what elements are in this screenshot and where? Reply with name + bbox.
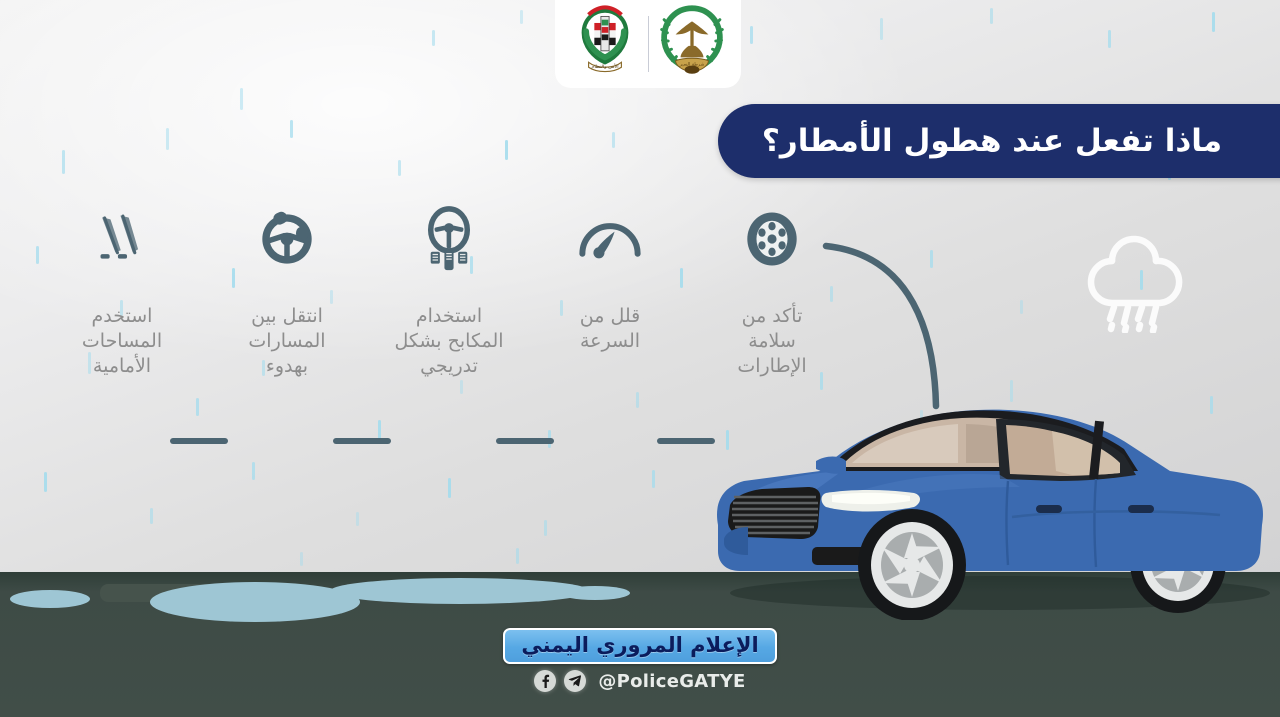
rain-drop [378,420,381,440]
rain-drop [880,18,883,40]
infographic-canvas: الأمن والنظام شرطة السير ماذا تفعل عند ه… [0,0,1280,717]
rain-drop [398,160,401,176]
steering-wheel-hands-icon [214,198,360,280]
step-label: استخدامالمكابح بشكلتدريجي [376,304,522,379]
rain-drop [750,26,753,44]
rain-drop [44,472,47,492]
rain-drop [252,462,255,480]
step-label: استخدمالمساحاتالأمامية [49,304,195,379]
step-reduce-speed[interactable]: قلل منالسرعة [537,198,683,354]
rain-drop [544,520,547,536]
social-row: @PoliceGATYE [534,670,745,692]
footer: الإعلام المروري اليمني @PoliceGATYE [0,628,1280,692]
telegram-icon[interactable] [564,670,586,692]
brand-badge: الإعلام المروري اليمني [503,628,776,664]
rain-cloud-icon [1068,215,1204,337]
rain-drop [166,128,169,150]
rain-drop [448,478,451,498]
step-gradual-braking[interactable]: استخدامالمكابح بشكلتدريجي [376,198,522,379]
rain-drop [520,10,523,24]
step-use-wipers[interactable]: استخدمالمساحاتالأمامية [49,198,195,379]
puddle-large [330,578,590,604]
facebook-icon[interactable] [534,670,556,692]
connector-3 [496,438,554,444]
rain-drop [1020,300,1023,314]
rain-drop [652,470,655,488]
front-wheel [858,509,966,620]
rain-drop [1108,30,1111,48]
connector-2 [333,438,391,444]
rain-drop [356,512,359,526]
puddle-medium [150,582,360,622]
social-handle: @PoliceGATYE [598,671,745,692]
blue-sedan-car [700,375,1280,624]
step-label: قلل منالسرعة [537,304,683,354]
page-title: ماذا تفعل عند هطول الأمطار؟ [762,123,1274,159]
steering-wheel-pedals-icon [376,198,522,280]
rain-drop [62,150,65,174]
emblem-card: الأمن والنظام شرطة السير [555,0,741,88]
rain-drop [300,552,303,566]
puddle-tiny [560,586,630,600]
yemen-national-police-emblem: الأمن والنظام [564,0,646,82]
emblem-divider [648,16,649,72]
rain-drop [1212,12,1215,32]
windshield-wipers-icon [49,198,195,280]
step-label: انتقل بينالمساراتبهدوء [214,304,360,379]
rain-drop [240,88,243,110]
step-change-lanes-calmly[interactable]: انتقل بينالمساراتبهدوء [214,198,360,379]
speedometer-icon [537,198,683,280]
rain-drop [516,548,519,564]
rain-drop [150,508,153,524]
rain-drop [505,140,508,160]
connector-1 [170,438,228,444]
page-title-banner: ماذا تفعل عند هطول الأمطار؟ [718,104,1280,178]
rain-drop [612,132,615,148]
rain-drop [432,30,435,46]
rain-drop [990,8,993,24]
brand-name: الإعلام المروري اليمني [521,633,758,657]
svg-text:الأمن والنظام: الأمن والنظام [591,63,618,70]
traffic-police-eagle-emblem: شرطة السير [651,0,733,82]
puddle-small [10,590,90,608]
rain-drop [290,120,293,138]
